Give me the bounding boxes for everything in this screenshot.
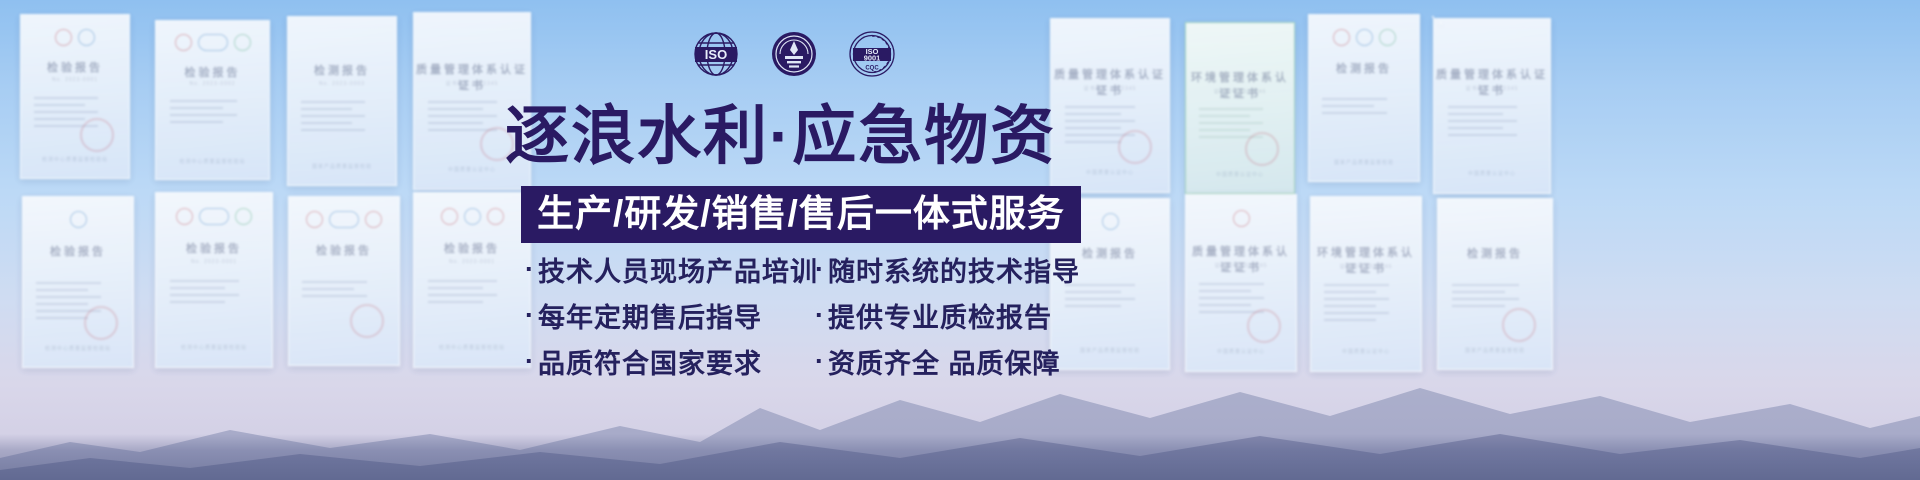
certification-emblem-badge xyxy=(768,28,820,80)
bullet-text: 随时系统的技术指导 xyxy=(828,250,1080,289)
iso-badge-label: ISO xyxy=(705,47,727,62)
bullet-item: · 品质符合国家要求 xyxy=(525,342,803,381)
bullet-marker-icon: · xyxy=(525,254,535,285)
iso9001-cqc-badge: ISO 9001 CQC xyxy=(846,28,898,80)
bullet-item: · 每年定期售后指导 xyxy=(525,296,803,335)
bullet-text: 技术人员现场产品培训 xyxy=(538,250,818,289)
bullet-item: · 技术人员现场产品培训 xyxy=(525,250,803,289)
promotional-banner: 检验报告 No. 2023-0001 检测中心质量监督检验站 检验报告 No. … xyxy=(0,0,1920,480)
bullet-marker-icon: · xyxy=(525,346,535,377)
banner-title: 逐浪水利·应急物资 xyxy=(505,104,1056,168)
bullet-marker-icon: · xyxy=(525,300,535,331)
banner-subtitle: 生产/研发/销售/售后一体式服务 xyxy=(537,195,1065,232)
svg-text:9001: 9001 xyxy=(864,53,880,62)
bullet-marker-icon: · xyxy=(815,346,825,377)
bullet-marker-icon: · xyxy=(815,300,825,331)
certification-badges: ISO xyxy=(690,28,898,80)
bullet-text: 资质齐全 品质保障 xyxy=(828,342,1061,381)
banner-content: ISO xyxy=(0,0,1920,480)
banner-subtitle-bar: 生产/研发/销售/售后一体式服务 xyxy=(521,186,1081,243)
bullet-text: 品质符合国家要求 xyxy=(538,342,762,381)
bullet-marker-icon: · xyxy=(815,254,825,285)
iso-globe-badge: ISO xyxy=(690,28,742,80)
svg-text:CQC: CQC xyxy=(865,66,879,72)
bullet-item: · 提供专业质检报告 xyxy=(815,296,1080,335)
feature-bullet-list: · 技术人员现场产品培训 · 随时系统的技术指导 · 每年定期售后指导 · 提供… xyxy=(525,246,1080,384)
bullet-item: · 随时系统的技术指导 xyxy=(815,250,1080,289)
bullet-item: · 资质齐全 品质保障 xyxy=(815,342,1080,381)
bullet-text: 每年定期售后指导 xyxy=(538,296,762,335)
bullet-text: 提供专业质检报告 xyxy=(828,296,1052,335)
